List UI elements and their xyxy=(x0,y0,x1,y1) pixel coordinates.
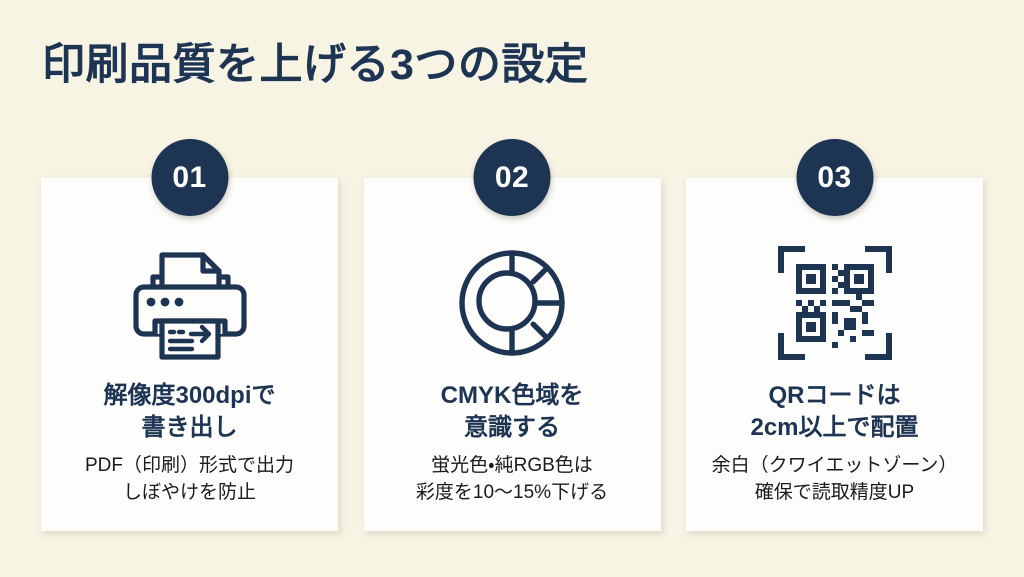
step-badge-number: 02 xyxy=(495,163,529,193)
card-title: 解像度300dpiで 書き出し xyxy=(103,380,275,443)
color-wheel-icon xyxy=(446,244,578,362)
slide-root: 印刷品質を上げる3つの設定 01 xyxy=(0,0,1024,577)
card-subtitle: PDF（印刷）形式で出力 しぼやけを防止 xyxy=(85,453,294,505)
step-badge-02: 02 xyxy=(474,139,551,216)
step-badge-number: 01 xyxy=(172,163,206,193)
step-badge-03: 03 xyxy=(796,139,873,216)
qr-code-scan-icon xyxy=(769,244,901,362)
card-subtitle: 蛍光色・純RGB色は 彩度を10〜15%下げる xyxy=(416,453,608,505)
card-02[interactable]: 02 CMYK色域を 意識する 蛍光色・純RGB色は 彩度を10〜15%下 xyxy=(364,178,661,531)
cards-row: 01 xyxy=(41,178,983,531)
page-title: 印刷品質を上げる3つの設定 xyxy=(42,40,588,91)
step-badge-01: 01 xyxy=(151,139,228,216)
card-03[interactable]: 03 xyxy=(686,178,983,531)
card-title: CMYK色域を 意識する xyxy=(441,380,584,443)
step-badge-number: 03 xyxy=(817,163,851,193)
card-title: QRコードは 2cm以上で配置 xyxy=(750,380,918,443)
printer-icon xyxy=(124,244,256,362)
card-subtitle: 余白（クワイエットゾーン） 確保で読取精度UP xyxy=(712,453,958,505)
card-01[interactable]: 01 xyxy=(41,178,338,531)
